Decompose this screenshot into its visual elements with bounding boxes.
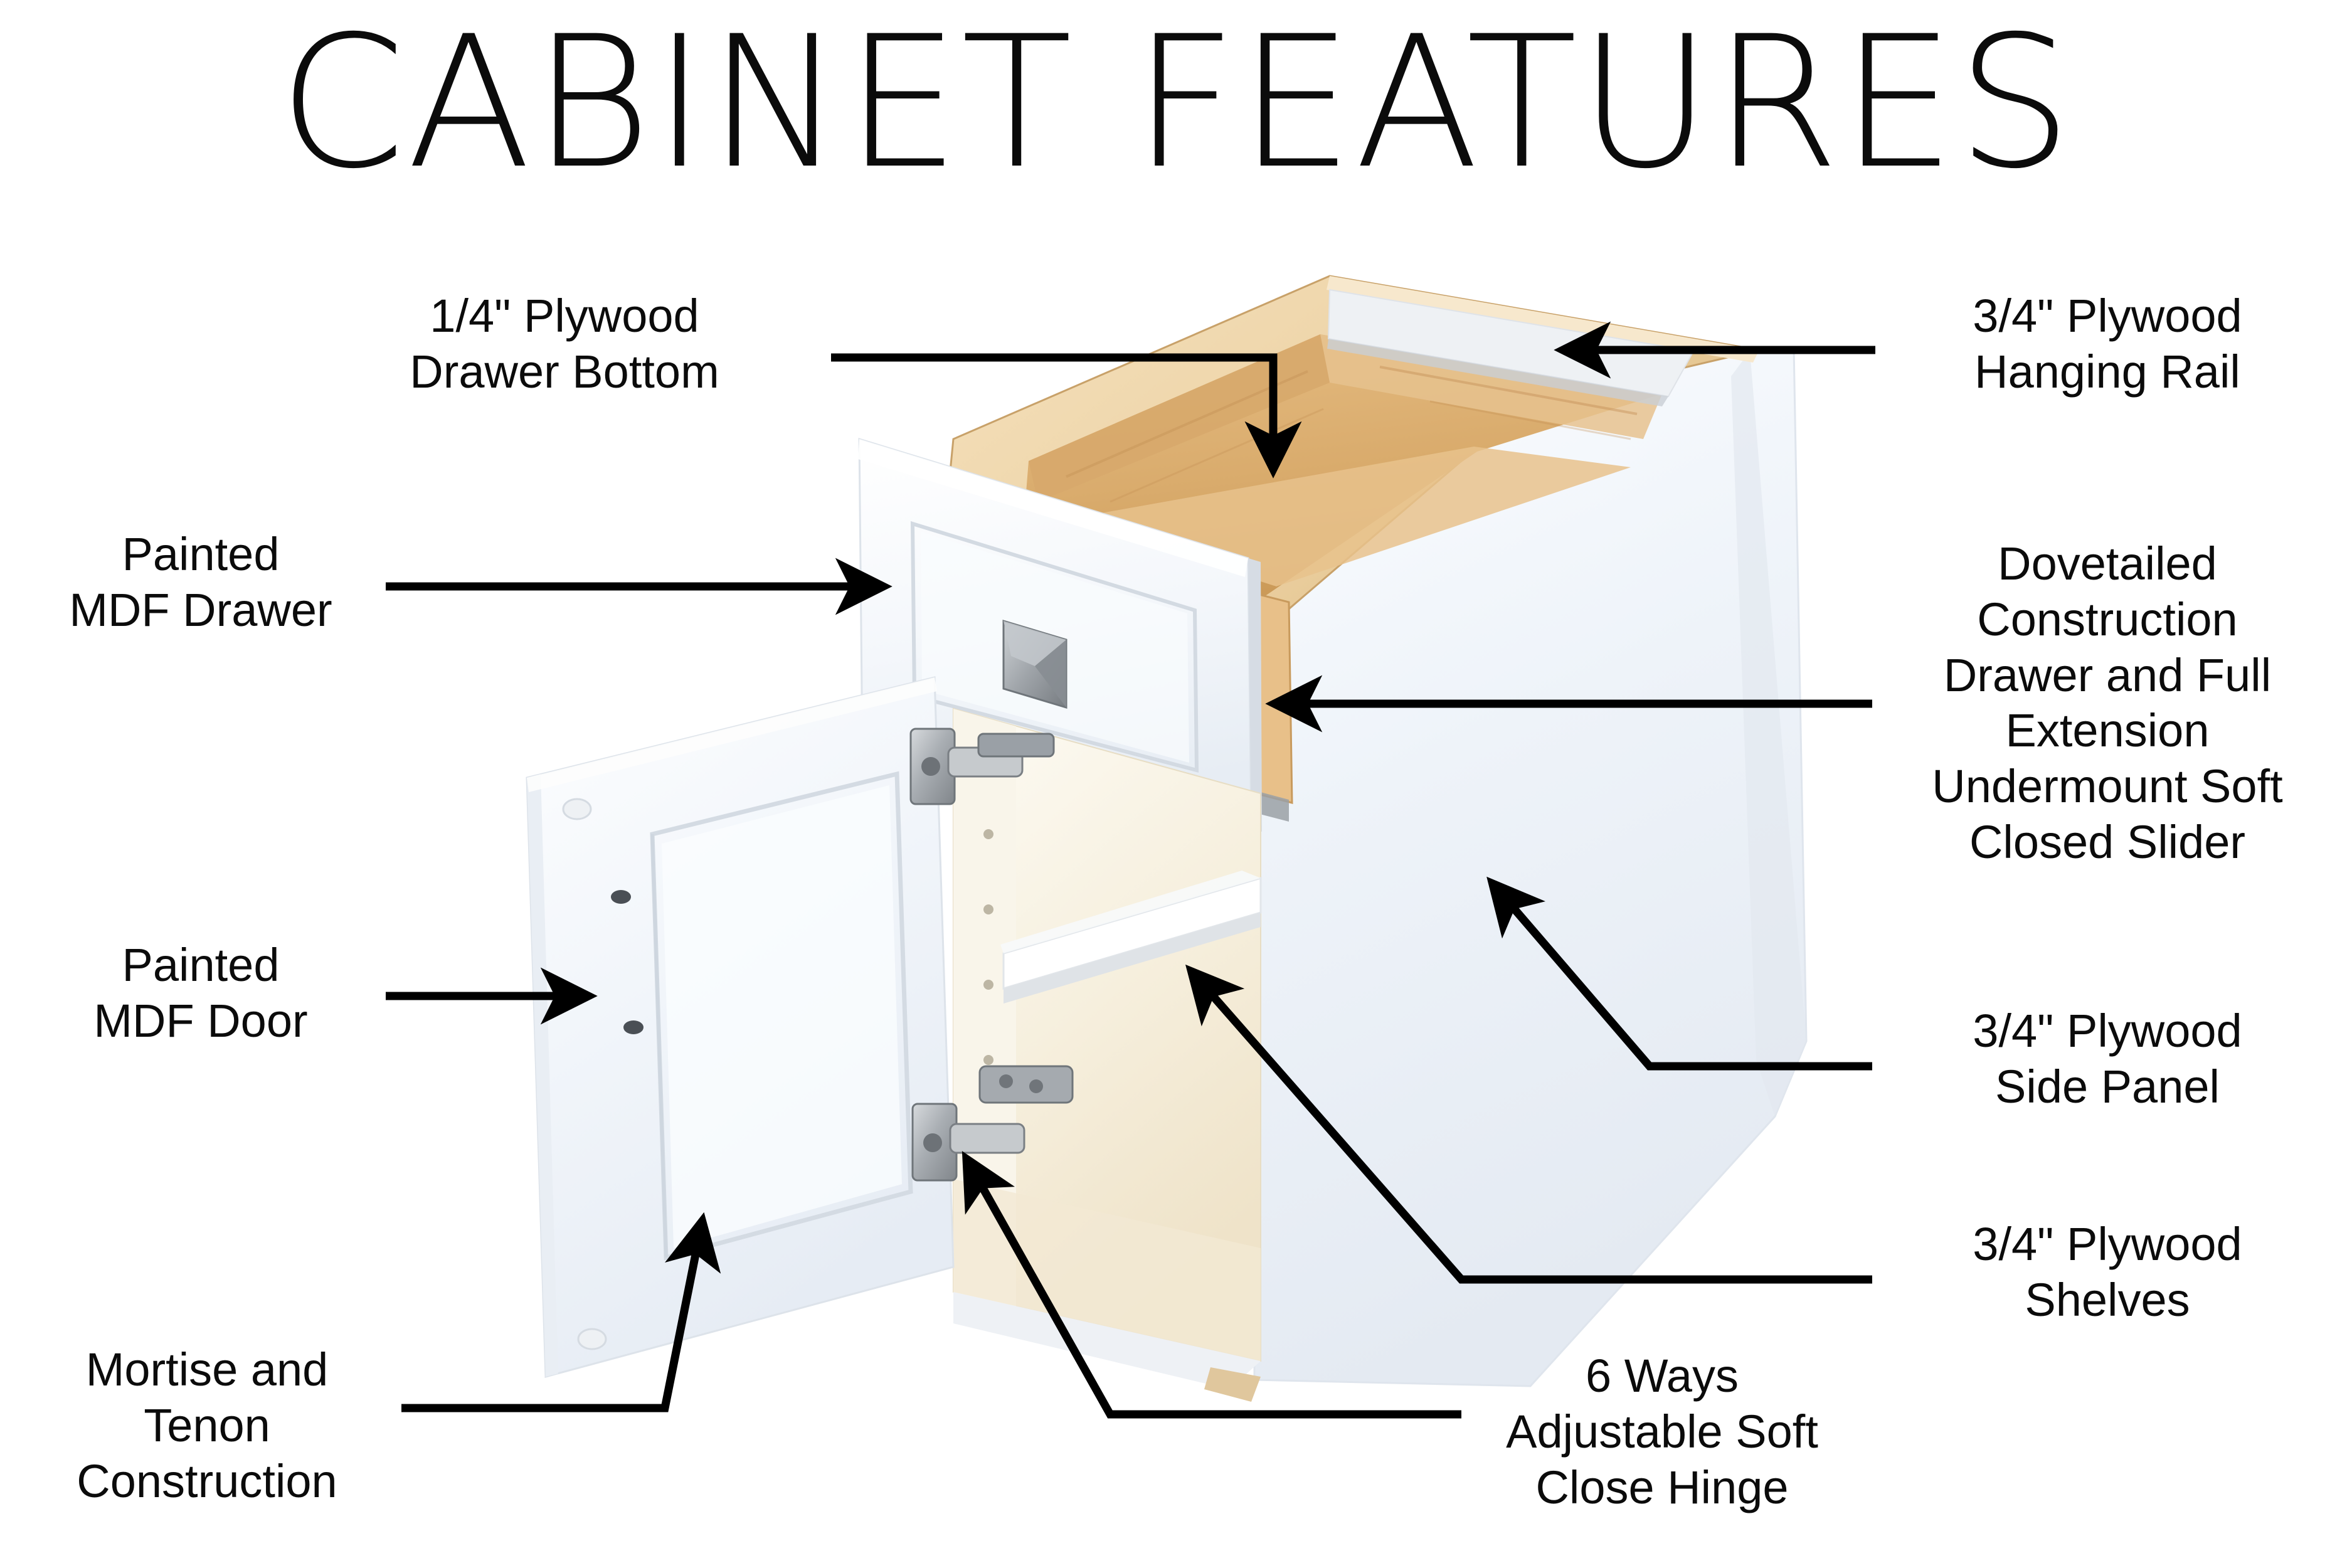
infographic-canvas: CABINET FEATURES xyxy=(0,0,2352,1568)
callout-hanging-rail: 3/4" Plywood Hanging Rail xyxy=(1888,289,2327,400)
callout-dovetailed-slider: Dovetailed Construction Drawer and Full … xyxy=(1882,536,2333,871)
callout-shelves: 3/4" Plywood Shelves xyxy=(1888,1217,2327,1328)
callout-soft-close-hinge: 6 Ways Adjustable Soft Close Hinge xyxy=(1468,1348,1857,1515)
callout-painted-mdf-door: Painted MDF Door xyxy=(25,938,376,1049)
cabinet-interior xyxy=(953,709,1261,1361)
callout-side-panel: 3/4" Plywood Side Panel xyxy=(1888,1004,2327,1115)
callout-drawer-bottom: 1/4" Plywood Drawer Bottom xyxy=(364,289,765,400)
callout-painted-mdf-drawer: Painted MDF Drawer xyxy=(25,527,376,638)
cabinet-door xyxy=(527,677,953,1377)
callout-mortise-tenon: Mortise and Tenon Construction xyxy=(25,1342,389,1509)
